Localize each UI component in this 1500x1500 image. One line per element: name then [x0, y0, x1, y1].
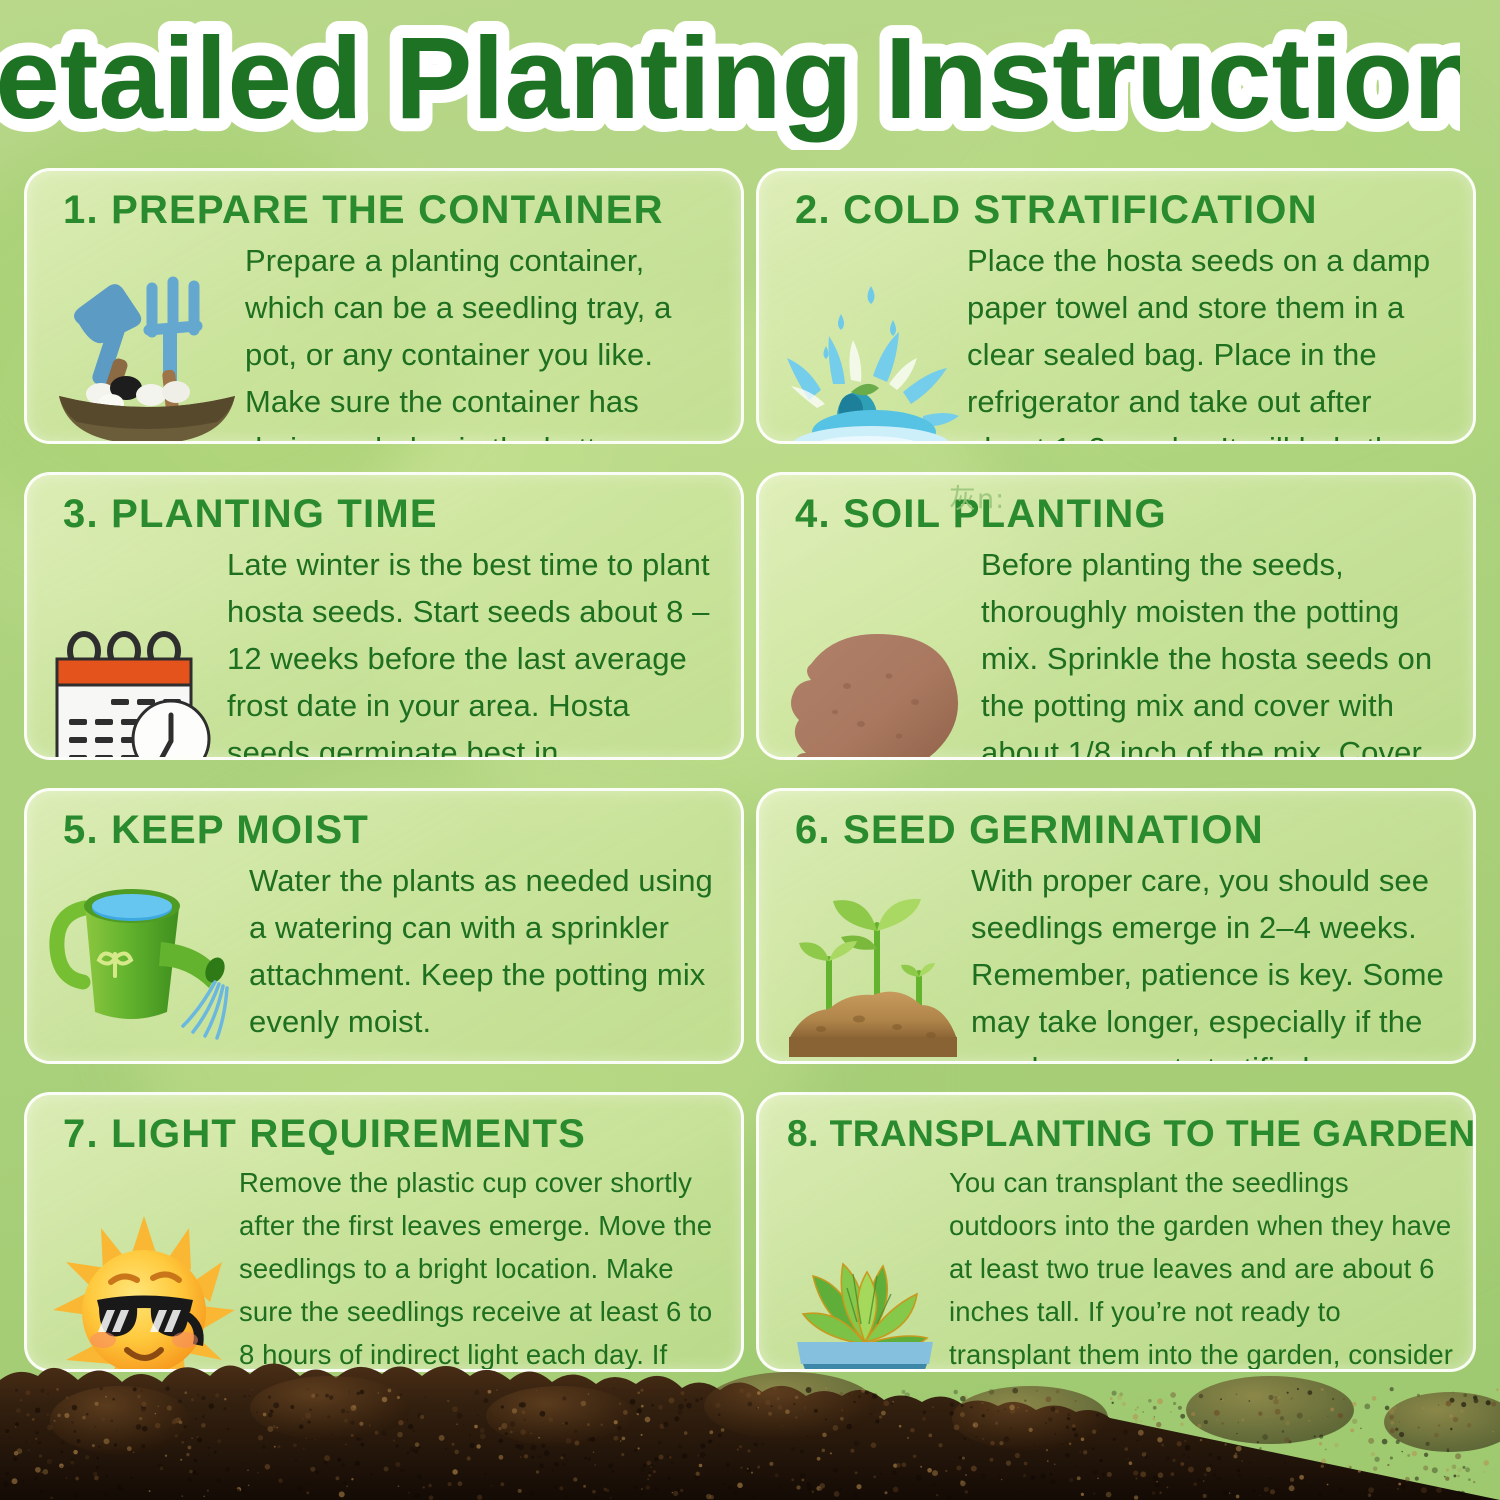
card-text: Prepare a planting container, which can …: [245, 237, 721, 444]
pot-with-shovel-and-fork-icon: [49, 266, 245, 444]
watering-can-icon: [49, 858, 249, 1044]
card-body: Water the plants as needed using a water…: [49, 857, 721, 1045]
card-soil-planting: 灰n: 4. SOIL PLANTING: [756, 472, 1476, 760]
infographic-page: Detailed Planting Instructions Detailed …: [0, 0, 1500, 1500]
card-prepare-the-container: 1. PREPARE THE CONTAINER: [24, 168, 744, 444]
card-title: 5. KEEP MOIST: [63, 807, 721, 853]
card-title: 7. LIGHT REQUIREMENTS: [63, 1111, 721, 1157]
soil-mound-icon: [781, 620, 981, 761]
card-text: Place the hosta seeds on a damp paper to…: [967, 237, 1453, 444]
page-title-svg: Detailed Planting Instructions Detailed …: [0, 18, 1460, 150]
card-title: 8. TRANSPLANTING TO THE GARDEN: [787, 1111, 1453, 1157]
card-title: 1. PREPARE THE CONTAINER: [63, 187, 721, 233]
card-keep-moist: 5. KEEP MOIST: [24, 788, 744, 1064]
card-text: Before planting the seeds, thoroughly mo…: [981, 541, 1453, 760]
seedlings-sprouting-icon: [781, 889, 971, 1061]
instruction-card-grid: 1. PREPARE THE CONTAINER: [24, 168, 1476, 1372]
card-cold-stratification: 2. COLD STRATIFICATION: [756, 168, 1476, 444]
page-title-text: Detailed Planting Instructions: [0, 18, 1460, 143]
card-planting-time: 3. PLANTING TIME: [24, 472, 744, 760]
calendar-with-clock-icon: [49, 621, 227, 761]
card-text: Late winter is the best time to plant ho…: [227, 541, 721, 760]
card-text: Water the plants as needed using a water…: [249, 857, 721, 1045]
soil-strip: [0, 1328, 1500, 1500]
card-title: 4. SOIL PLANTING: [795, 491, 1453, 537]
card-body: With proper care, you should see seedlin…: [781, 857, 1453, 1064]
card-body: Before planting the seeds, thoroughly mo…: [781, 541, 1453, 760]
water-splash-icon: [781, 280, 967, 444]
page-title: Detailed Planting Instructions Detailed …: [0, 18, 1500, 150]
card-body: Prepare a planting container, which can …: [49, 237, 721, 444]
card-body: Place the hosta seeds on a damp paper to…: [781, 237, 1453, 444]
card-title: 3. PLANTING TIME: [63, 491, 721, 537]
card-seed-germination: 6. SEED GERMINATION: [756, 788, 1476, 1064]
card-text: With proper care, you should see seedlin…: [971, 857, 1453, 1064]
card-title: 6. SEED GERMINATION: [795, 807, 1453, 853]
card-body: Late winter is the best time to plant ho…: [49, 541, 721, 760]
card-title: 2. COLD STRATIFICATION: [795, 187, 1453, 233]
